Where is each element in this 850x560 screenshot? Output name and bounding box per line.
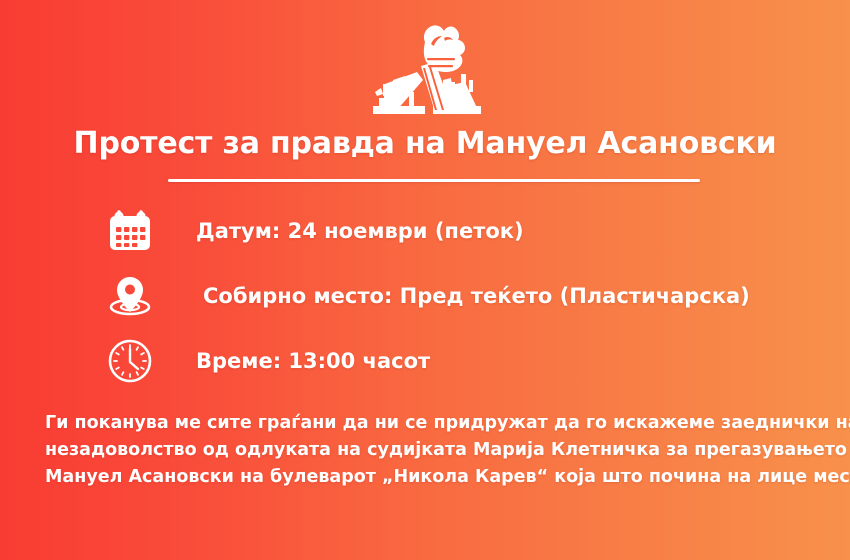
detail-row-date: Датум: 24 ноември (петок) [0, 202, 850, 260]
event-details-list: Датум: 24 ноември (петок) Собирно место:… [0, 202, 850, 385]
raised-fist-protest-icon [0, 22, 850, 118]
detail-text-place: Собирно место: Пред теќето (Пластичарска… [203, 284, 750, 308]
announcement-body-line-3: Мануел Асановски на булеварот „Никола Ка… [45, 464, 807, 491]
detail-row-place: Собирно место: Пред теќето (Пластичарска… [0, 267, 850, 325]
announcement-body-line-1: Ги поканува ме сите граѓани да ни се при… [45, 410, 807, 437]
title-divider [168, 179, 700, 182]
calendar-icon [100, 202, 160, 260]
announcement-body: Ги поканува ме сите граѓани да ни се при… [45, 410, 807, 491]
protest-announcement-poster: Протест за правда на Мануел Асановски [0, 0, 850, 560]
detail-row-time: Време: 13:00 часот [0, 332, 850, 390]
page-title: Протест за правда на Мануел Асановски [0, 126, 850, 161]
detail-text-date: Датум: 24 ноември (петок) [196, 219, 524, 243]
detail-text-time: Време: 13:00 часот [196, 349, 430, 373]
location-pin-icon [100, 267, 160, 325]
clock-icon [100, 332, 160, 390]
announcement-body-line-2: незадоволство од одлуката на судијката М… [45, 437, 807, 464]
